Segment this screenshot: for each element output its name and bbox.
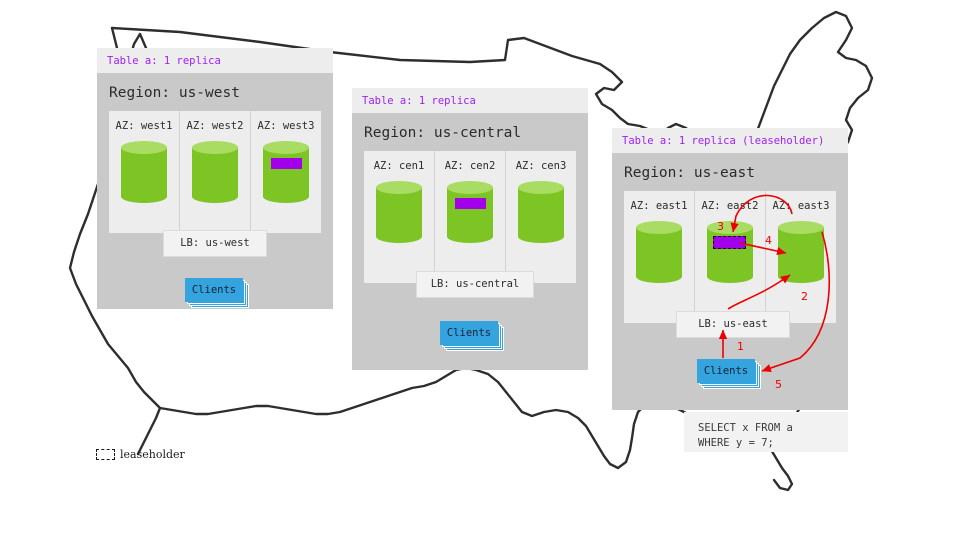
region-title-us-central: Region: us-central — [352, 113, 588, 151]
panel-header-us-east: Table a: 1 replica (leaseholder) — [612, 128, 848, 153]
load-balancer-us-west[interactable]: LB: us-west — [163, 230, 267, 257]
az-label-east3: AZ: east3 — [766, 200, 836, 212]
az-label-west1: AZ: west1 — [109, 120, 179, 132]
legend-label: leaseholder — [120, 448, 185, 461]
az-cell-west2[interactable]: AZ: west2 — [179, 111, 250, 233]
clients-stack-us-east[interactable]: Clients — [697, 359, 759, 387]
az-label-west2: AZ: west2 — [180, 120, 250, 132]
az-strip-us-west: AZ: west1 AZ: west2 — [109, 111, 321, 233]
az-cell-west3[interactable]: AZ: west3 — [250, 111, 321, 233]
clients-label-us-central[interactable]: Clients — [440, 321, 498, 345]
node-cylinder-east3[interactable] — [778, 221, 824, 283]
replica-marker-cen2 — [455, 198, 486, 209]
cylinder-top — [192, 141, 238, 154]
cylinder-top — [518, 181, 564, 194]
region-panel-us-west[interactable]: Table a: 1 replica Region: us-west AZ: w… — [97, 48, 333, 309]
region-panel-us-east[interactable]: Table a: 1 replica (leaseholder) Region:… — [612, 128, 848, 410]
node-cylinder-west1[interactable] — [121, 141, 167, 203]
node-cylinder-cen1[interactable] — [376, 181, 422, 243]
az-label-cen2: AZ: cen2 — [435, 160, 505, 172]
az-strip-us-east: AZ: east1 AZ: east2 — [624, 191, 836, 323]
az-label-cen1: AZ: cen1 — [364, 160, 434, 172]
node-cylinder-east2[interactable] — [707, 221, 753, 283]
az-cell-east1[interactable]: AZ: east1 — [624, 191, 694, 323]
cylinder-top — [263, 141, 309, 154]
leaseholder-marker-east2 — [713, 236, 746, 249]
az-cell-cen1[interactable]: AZ: cen1 — [364, 151, 434, 283]
dashed-rect-swatch-icon — [96, 449, 115, 460]
cylinder-top — [707, 221, 753, 234]
sql-query-box: SELECT x FROM a WHERE y = 7; — [684, 412, 848, 452]
cylinder-body — [636, 227, 682, 277]
cylinder-body — [447, 187, 493, 237]
cylinder-body — [263, 147, 309, 197]
load-balancer-us-central[interactable]: LB: us-central — [416, 271, 534, 298]
node-cylinder-cen3[interactable] — [518, 181, 564, 243]
region-title-us-east: Region: us-east — [612, 153, 848, 191]
node-cylinder-west3[interactable] — [263, 141, 309, 203]
az-strip-us-central: AZ: cen1 AZ: cen2 — [364, 151, 576, 283]
az-cell-west1[interactable]: AZ: west1 — [109, 111, 179, 233]
replica-marker-west3 — [271, 158, 302, 169]
load-balancer-us-east[interactable]: LB: us-east — [676, 311, 790, 338]
region-panel-us-central[interactable]: Table a: 1 replica Region: us-central AZ… — [352, 88, 588, 370]
panel-header-us-west: Table a: 1 replica — [97, 48, 333, 73]
legend: leaseholder — [96, 448, 185, 461]
az-cell-cen2[interactable]: AZ: cen2 — [434, 151, 505, 283]
az-cell-east2[interactable]: AZ: east2 — [694, 191, 765, 323]
node-cylinder-east1[interactable] — [636, 221, 682, 283]
az-cell-east3[interactable]: AZ: east3 — [765, 191, 836, 323]
cylinder-body — [778, 227, 824, 277]
node-cylinder-cen2[interactable] — [447, 181, 493, 243]
clients-label-us-east[interactable]: Clients — [697, 359, 755, 383]
cylinder-body — [707, 227, 753, 277]
cylinder-top — [376, 181, 422, 194]
az-label-east1: AZ: east1 — [624, 200, 694, 212]
clients-stack-us-west[interactable]: Clients — [185, 278, 247, 306]
az-cell-cen3[interactable]: AZ: cen3 — [505, 151, 576, 283]
cylinder-top — [121, 141, 167, 154]
cylinder-body — [121, 147, 167, 197]
az-label-east2: AZ: east2 — [695, 200, 765, 212]
cylinder-body — [518, 187, 564, 237]
az-label-west3: AZ: west3 — [251, 120, 321, 132]
cylinder-top — [636, 221, 682, 234]
cylinder-top — [447, 181, 493, 194]
cylinder-body — [376, 187, 422, 237]
cylinder-top — [778, 221, 824, 234]
panel-header-us-central: Table a: 1 replica — [352, 88, 588, 113]
region-title-us-west: Region: us-west — [97, 73, 333, 111]
node-cylinder-west2[interactable] — [192, 141, 238, 203]
cylinder-body — [192, 147, 238, 197]
clients-label-us-west[interactable]: Clients — [185, 278, 243, 302]
az-label-cen3: AZ: cen3 — [506, 160, 576, 172]
clients-stack-us-central[interactable]: Clients — [440, 321, 502, 349]
